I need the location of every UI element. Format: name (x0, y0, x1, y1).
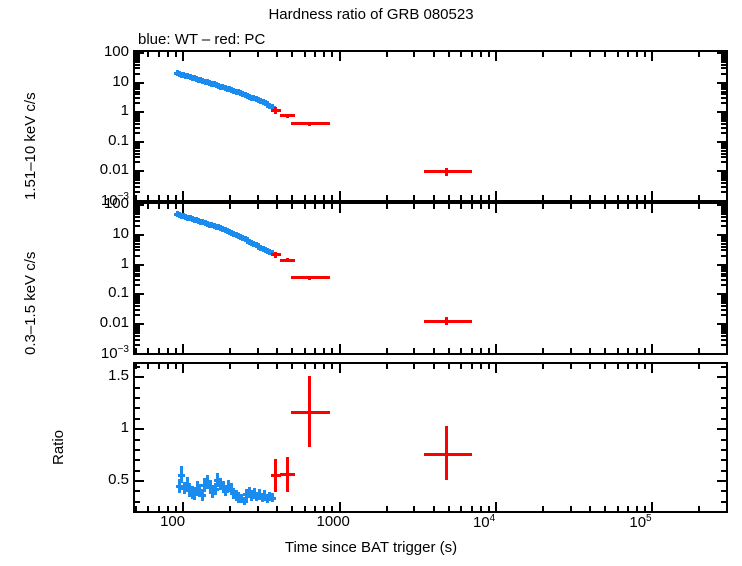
x-tick (617, 195, 619, 200)
y-tick (135, 93, 140, 95)
x-tick (182, 191, 184, 200)
data-point-wt (269, 497, 276, 500)
y-tick-label: 1.5 (83, 367, 129, 384)
x-tick (480, 348, 482, 353)
y-tick (721, 73, 726, 75)
y-tick (721, 255, 726, 257)
x-tick (433, 348, 435, 353)
x-tick (604, 52, 606, 57)
x-tick (323, 195, 325, 200)
x-tick (175, 195, 177, 200)
y-tick (717, 52, 726, 54)
y-tick (721, 127, 726, 129)
x-tick (331, 195, 333, 200)
x-tick (175, 506, 177, 511)
y-tick (717, 82, 726, 84)
y-tick (721, 59, 726, 61)
y-tick (135, 428, 144, 430)
y-tick (135, 141, 144, 143)
x-tick (471, 348, 473, 353)
y-tick (721, 61, 726, 63)
x-tick (433, 52, 435, 57)
x-tick (158, 195, 160, 200)
x-tick (147, 506, 149, 511)
x-tick (158, 506, 160, 511)
y-tick (135, 366, 140, 368)
x-tick (617, 204, 619, 209)
x-tick (570, 204, 572, 209)
y-tick (721, 91, 726, 93)
x-tick (636, 204, 638, 209)
panel-middle-lightcurve[interactable] (133, 202, 728, 355)
x-tick (339, 364, 341, 373)
x-tick (182, 344, 184, 353)
x-tick (291, 52, 293, 57)
x-tick (480, 195, 482, 200)
x-tick (651, 52, 653, 61)
data-point-pc (286, 457, 289, 492)
y-tick (721, 102, 726, 104)
y-tick (717, 323, 726, 325)
x-tick (651, 191, 653, 200)
x-tick (448, 348, 450, 353)
y-tick (721, 86, 726, 88)
x-tick (413, 204, 415, 209)
x-tick (570, 348, 572, 353)
y-tick (717, 234, 726, 236)
x-tick (448, 204, 450, 209)
x-tick (323, 204, 325, 209)
y-tick (135, 302, 140, 304)
x-tick (386, 348, 388, 353)
y-tick (135, 211, 140, 213)
x-tick (471, 52, 473, 57)
y-tick (135, 186, 140, 188)
y-tick (721, 339, 726, 341)
data-point-pc (286, 258, 289, 262)
y-tick (135, 243, 140, 245)
x-tick (167, 195, 169, 200)
x-tick (627, 204, 629, 209)
y-tick (135, 179, 140, 181)
x-tick (460, 52, 462, 57)
y-tick (135, 387, 140, 389)
y-tick (135, 57, 140, 59)
y-tick (135, 61, 140, 63)
x-tick (488, 364, 490, 369)
x-tick (257, 195, 259, 200)
y-tick (135, 305, 140, 307)
x-tick (604, 506, 606, 511)
y-tick-label: 0.1 (83, 284, 129, 301)
y-tick (717, 264, 726, 266)
x-tick (323, 364, 325, 369)
x-tick (276, 52, 278, 57)
y-tick (721, 93, 726, 95)
x-tick (488, 52, 490, 57)
x-tick (257, 204, 259, 209)
y-tick (721, 332, 726, 334)
y-tick (135, 120, 140, 122)
x-tick (229, 195, 231, 200)
data-point-wt (241, 500, 248, 503)
x-tick (570, 364, 572, 369)
y-tick (717, 480, 726, 482)
y-tick (135, 116, 140, 118)
x-tick (175, 204, 177, 209)
x-tick (644, 364, 646, 369)
y-tick (717, 204, 726, 206)
y-tick (721, 490, 726, 492)
x-tick (644, 204, 646, 209)
x-tick (339, 502, 341, 511)
y-tick (721, 191, 726, 193)
x-tick (651, 502, 653, 511)
y-tick (721, 88, 726, 90)
x-tick (636, 195, 638, 200)
x-tick (480, 506, 482, 511)
data-point-pc (286, 114, 289, 118)
data-point-wt (212, 488, 219, 491)
x-tick-label: 1000 (317, 513, 350, 530)
y-tick (721, 344, 726, 346)
x-tick (604, 364, 606, 369)
y-tick (135, 175, 140, 177)
x-tick (651, 344, 653, 353)
y-tick (721, 238, 726, 240)
y-tick (721, 275, 726, 277)
x-tick (636, 506, 638, 511)
panel-upper-lightcurve[interactable] (133, 50, 728, 202)
y-tick (135, 147, 140, 149)
y-tick-label: 100 (83, 195, 129, 212)
x-tick (304, 52, 306, 57)
y-tick (721, 179, 726, 181)
y-tick (721, 300, 726, 302)
x-tick (636, 364, 638, 369)
y-tick (721, 397, 726, 399)
x-tick (314, 52, 316, 57)
x-tick (604, 195, 606, 200)
x-tick (488, 506, 490, 511)
y-tick-label: 0.01 (83, 314, 129, 331)
x-tick (314, 195, 316, 200)
y-tick (135, 97, 140, 99)
y-tick (135, 490, 140, 492)
y-tick (717, 428, 726, 430)
x-tick (323, 52, 325, 57)
x-tick (698, 52, 700, 57)
x-tick (570, 52, 572, 57)
x-tick (386, 364, 388, 369)
y-tick (135, 309, 140, 311)
x-tick (182, 52, 184, 61)
x-tick-label: 104 (473, 513, 495, 531)
y-tick (135, 293, 144, 295)
x-tick (644, 195, 646, 200)
x-tick (175, 364, 177, 369)
y-tick (717, 170, 726, 172)
y-tick (721, 309, 726, 311)
x-tick (276, 364, 278, 369)
y-tick (721, 120, 726, 122)
x-tick (386, 52, 388, 57)
y-tick (721, 132, 726, 134)
y-tick (135, 376, 144, 378)
y-tick (135, 264, 144, 266)
y-tick (135, 161, 140, 163)
y-tick (135, 91, 140, 93)
x-tick (448, 506, 450, 511)
y-tick (135, 209, 140, 211)
x-tick (386, 195, 388, 200)
y-tick (135, 216, 140, 218)
x-tick (182, 364, 184, 373)
y-tick (135, 298, 140, 300)
y-tick (135, 234, 144, 236)
y-tick (135, 150, 140, 152)
y-tick-label: 0.5 (83, 471, 129, 488)
y-tick-label: 100 (83, 43, 129, 60)
x-tick (604, 204, 606, 209)
y-tick (135, 273, 140, 275)
x-tick (314, 364, 316, 369)
y-tick (717, 141, 726, 143)
x-tick (158, 348, 160, 353)
y-tick (135, 82, 144, 84)
y-tick (135, 127, 140, 129)
x-tick (339, 191, 341, 200)
y-tick (135, 59, 140, 61)
x-tick (331, 52, 333, 57)
y-tick-label: 1 (83, 255, 129, 272)
x-tick (589, 506, 591, 511)
x-tick (304, 364, 306, 369)
x-tick (471, 195, 473, 200)
x-tick (495, 52, 497, 61)
y-tick (721, 216, 726, 218)
x-tick (413, 52, 415, 57)
y-tick (135, 118, 140, 120)
y-tick (721, 314, 726, 316)
x-tick (448, 52, 450, 57)
y-tick (721, 182, 726, 184)
x-tick (386, 204, 388, 209)
y-tick (135, 344, 140, 346)
y-tick (135, 52, 144, 54)
x-tick (471, 506, 473, 511)
x-tick-label: 105 (629, 513, 651, 531)
y-tick (721, 118, 726, 120)
x-tick (413, 364, 415, 369)
x-tick (147, 52, 149, 57)
x-tick (698, 506, 700, 511)
x-tick (229, 364, 231, 369)
x-tick (433, 195, 435, 200)
x-tick (257, 506, 259, 511)
y-tick (721, 302, 726, 304)
y-tick (717, 111, 726, 113)
y-tick (721, 328, 726, 330)
x-tick (291, 506, 293, 511)
x-tick (413, 348, 415, 353)
y-tick (135, 439, 140, 441)
y-tick (135, 314, 140, 316)
x-tick (167, 204, 169, 209)
x-axis-label: Time since BAT trigger (s) (0, 539, 742, 556)
x-tick (480, 204, 482, 209)
x-tick (167, 348, 169, 353)
y-tick (721, 177, 726, 179)
x-tick (276, 348, 278, 353)
y-tick (135, 459, 140, 461)
y-tick (721, 249, 726, 251)
y-tick (721, 150, 726, 152)
x-tick (617, 52, 619, 57)
y-tick (721, 418, 726, 420)
x-tick (698, 195, 700, 200)
x-tick (589, 52, 591, 57)
y-tick (135, 330, 140, 332)
x-tick (627, 364, 629, 369)
y-tick (721, 470, 726, 472)
y-tick (135, 418, 140, 420)
x-tick (542, 195, 544, 200)
y-tick (135, 102, 140, 104)
y-tick (721, 268, 726, 270)
x-tick (147, 195, 149, 200)
data-point-pc (445, 168, 448, 176)
x-tick (448, 195, 450, 200)
x-tick-label: 100 (160, 513, 185, 530)
x-tick (331, 204, 333, 209)
y-tick (721, 97, 726, 99)
x-tick (257, 364, 259, 369)
y-tick (721, 284, 726, 286)
y-tick (721, 225, 726, 227)
x-tick (229, 506, 231, 511)
x-tick (413, 195, 415, 200)
y-tick (721, 153, 726, 155)
x-tick (276, 506, 278, 511)
y-tick (135, 123, 140, 125)
x-tick (433, 204, 435, 209)
y-tick (721, 273, 726, 275)
y-tick (721, 145, 726, 147)
y-tick-label: 0.1 (83, 132, 129, 149)
x-tick (570, 506, 572, 511)
x-tick (257, 52, 259, 57)
x-tick (229, 348, 231, 353)
panel-ratio[interactable] (133, 362, 728, 513)
y-tick (135, 156, 140, 158)
x-tick (460, 348, 462, 353)
x-tick (488, 204, 490, 209)
y-tick (721, 123, 726, 125)
x-tick (339, 52, 341, 61)
x-tick (460, 506, 462, 511)
x-tick (471, 204, 473, 209)
x-tick (304, 348, 306, 353)
data-point-pc (308, 276, 311, 280)
y-tick (135, 153, 140, 155)
x-tick (698, 204, 700, 209)
y-tick (135, 397, 140, 399)
x-tick (617, 506, 619, 511)
y-tick (721, 407, 726, 409)
x-tick (542, 348, 544, 353)
data-point-pc (445, 317, 448, 325)
x-tick (291, 195, 293, 200)
y-tick (135, 323, 144, 325)
x-tick (495, 204, 497, 213)
y-tick (135, 177, 140, 179)
x-tick (495, 191, 497, 200)
x-tick (276, 195, 278, 200)
y-tick (135, 284, 140, 286)
y-tick (135, 111, 144, 113)
y-tick-label: 1 (83, 102, 129, 119)
x-tick (460, 204, 462, 209)
y-tick (135, 204, 144, 206)
x-tick (644, 506, 646, 511)
x-tick (480, 364, 482, 369)
y-tick (721, 186, 726, 188)
x-tick (304, 506, 306, 511)
x-tick (460, 195, 462, 200)
x-tick (182, 502, 184, 511)
y-tick (135, 501, 140, 503)
x-tick (167, 364, 169, 369)
x-tick (331, 506, 333, 511)
x-tick (291, 204, 293, 209)
y-tick (135, 225, 140, 227)
x-tick (291, 348, 293, 353)
x-tick (480, 52, 482, 57)
x-tick (627, 506, 629, 511)
x-tick (433, 506, 435, 511)
data-point-pc (308, 376, 311, 446)
y-tick (135, 67, 140, 69)
y-tick-label: 1 (83, 419, 129, 436)
x-tick (323, 506, 325, 511)
x-tick (495, 344, 497, 353)
x-tick (147, 364, 149, 369)
y-tick (717, 376, 726, 378)
x-tick (175, 348, 177, 353)
y-tick (135, 279, 140, 281)
y-tick (721, 366, 726, 368)
x-tick (175, 52, 177, 57)
x-tick (257, 348, 259, 353)
y-tick (135, 407, 140, 409)
data-point-wt (178, 474, 185, 477)
x-tick (589, 195, 591, 200)
data-point-pc (308, 122, 311, 126)
y-tick (721, 211, 726, 213)
x-tick (158, 204, 160, 209)
y-tick (717, 293, 726, 295)
y-tick (721, 213, 726, 215)
y-tick (721, 243, 726, 245)
x-tick (471, 364, 473, 369)
y-tick (135, 170, 144, 172)
x-tick (433, 364, 435, 369)
x-tick (589, 348, 591, 353)
x-tick (495, 364, 497, 373)
legend-inline: blue: WT – red: PC (138, 31, 265, 48)
y-tick (135, 145, 140, 147)
